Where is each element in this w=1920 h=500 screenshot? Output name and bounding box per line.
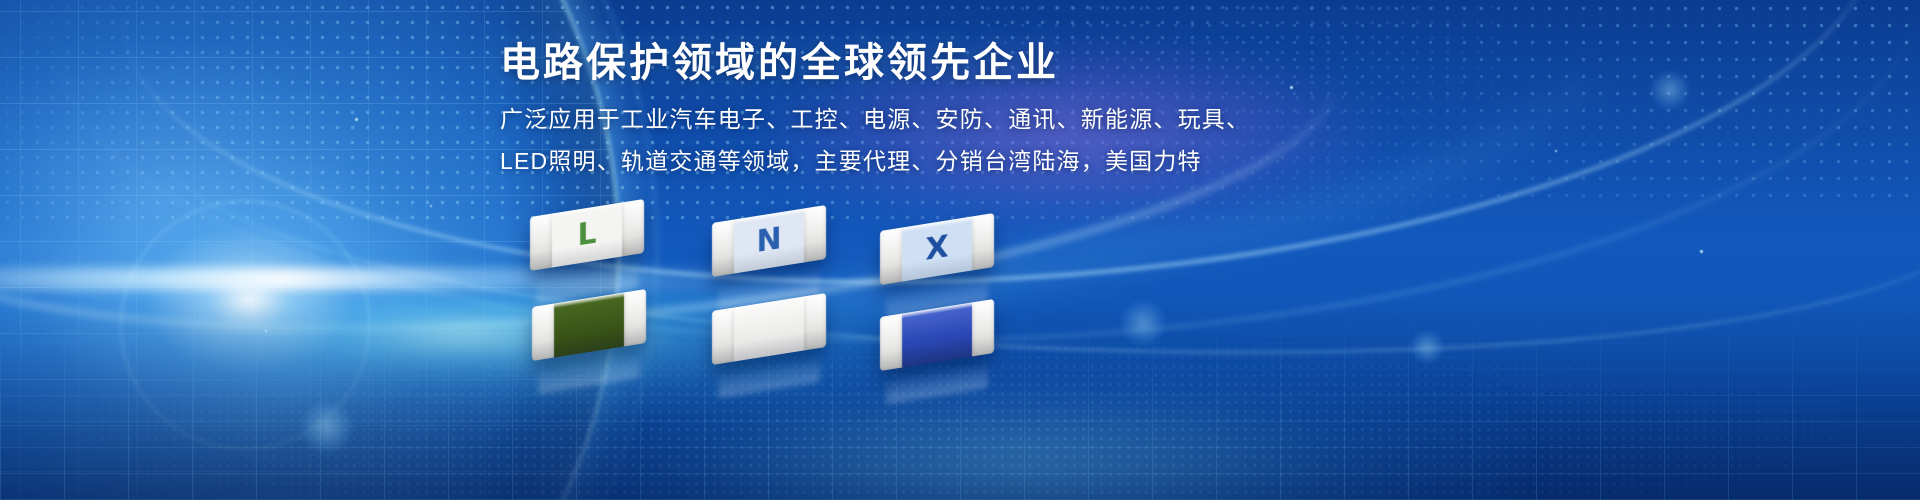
bokeh-particle bbox=[1650, 70, 1690, 110]
bokeh-particle bbox=[1120, 300, 1166, 346]
subtitle-line-1: 广泛应用于工业汽车电子、工控、电源、安防、通讯、新能源、玩具、 bbox=[500, 100, 1460, 140]
chip-body: N bbox=[712, 205, 826, 277]
chip-fuse-blue bbox=[880, 308, 994, 362]
page-title: 电路保护领域的全球领先企业 bbox=[500, 40, 1460, 86]
bokeh-particle bbox=[300, 400, 354, 454]
hero-banner: 电路保护领域的全球领先企业 广泛应用于工业汽车电子、工控、电源、安防、通讯、新能… bbox=[0, 0, 1920, 500]
chip-body bbox=[532, 289, 646, 361]
chip-reflection bbox=[538, 352, 640, 394]
banner-copy: 电路保护领域的全球领先企业 广泛应用于工业汽车电子、工控、电源、安防、通讯、新能… bbox=[500, 40, 1460, 181]
chip-body bbox=[880, 299, 994, 371]
product-chip-group: L N X bbox=[520, 190, 1040, 390]
spark-particle bbox=[355, 118, 358, 121]
subtitle-line-2: LED照明、轨道交通等领域，主要代理、分销台湾陆海，美国力特 bbox=[500, 142, 1460, 182]
chip-body: X bbox=[880, 213, 994, 285]
chip-body: L bbox=[530, 199, 644, 271]
spark-particle bbox=[1700, 250, 1703, 253]
spark-particle bbox=[1555, 150, 1557, 152]
chip-fuse-n: N bbox=[712, 214, 826, 268]
chip-fuse-green bbox=[532, 298, 646, 352]
bokeh-particle bbox=[1410, 330, 1444, 364]
spark-particle bbox=[430, 205, 432, 207]
chip-fuse-l: L bbox=[530, 208, 644, 262]
spark-particle bbox=[265, 330, 267, 332]
chip-fuse-plain bbox=[712, 302, 826, 356]
chip-fuse-x: X bbox=[880, 222, 994, 276]
chip-body bbox=[712, 293, 826, 365]
